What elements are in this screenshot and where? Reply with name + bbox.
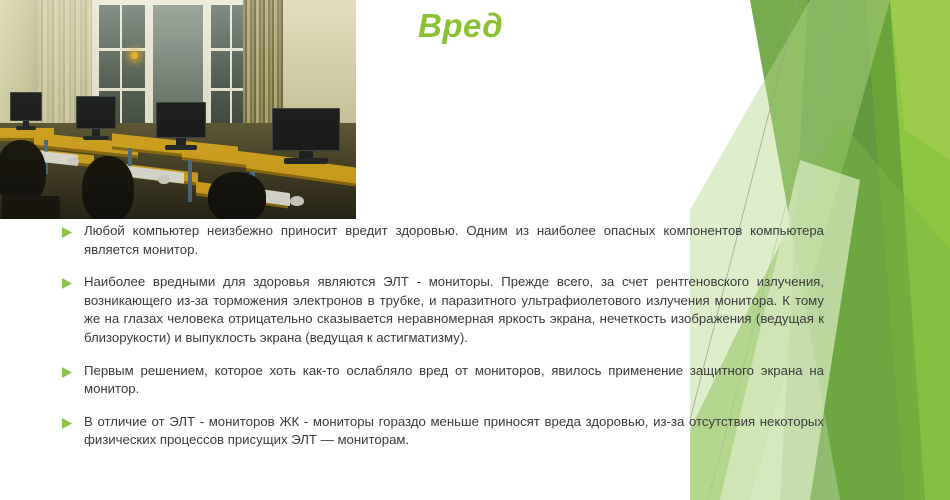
computer-classroom-photo [0,0,356,219]
list-item-text: Первым решением, которое хоть как-то осл… [84,362,824,399]
triangle-right-icon [62,362,84,378]
triangle-right-icon [62,222,84,238]
list-item: Любой компьютер неизбежно приносит вреди… [62,222,824,259]
triangle-right-icon [62,273,84,289]
slide-title: Вред [418,7,503,45]
list-item-text: В отличие от ЭЛТ - мониторов ЖК - монито… [84,413,824,450]
presentation-slide: Вред Любой компьютер неизбежно приносит … [0,0,950,500]
triangle-right-icon [62,413,84,429]
list-item-text: Наиболее вредными для здоровья являются … [84,273,824,347]
list-item: В отличие от ЭЛТ - мониторов ЖК - монито… [62,413,824,450]
bullet-list: Любой компьютер неизбежно приносит вреди… [62,222,824,450]
list-item: Первым решением, которое хоть как-то осл… [62,362,824,399]
list-item: Наиболее вредными для здоровья являются … [62,273,824,347]
list-item-text: Любой компьютер неизбежно приносит вреди… [84,222,824,259]
